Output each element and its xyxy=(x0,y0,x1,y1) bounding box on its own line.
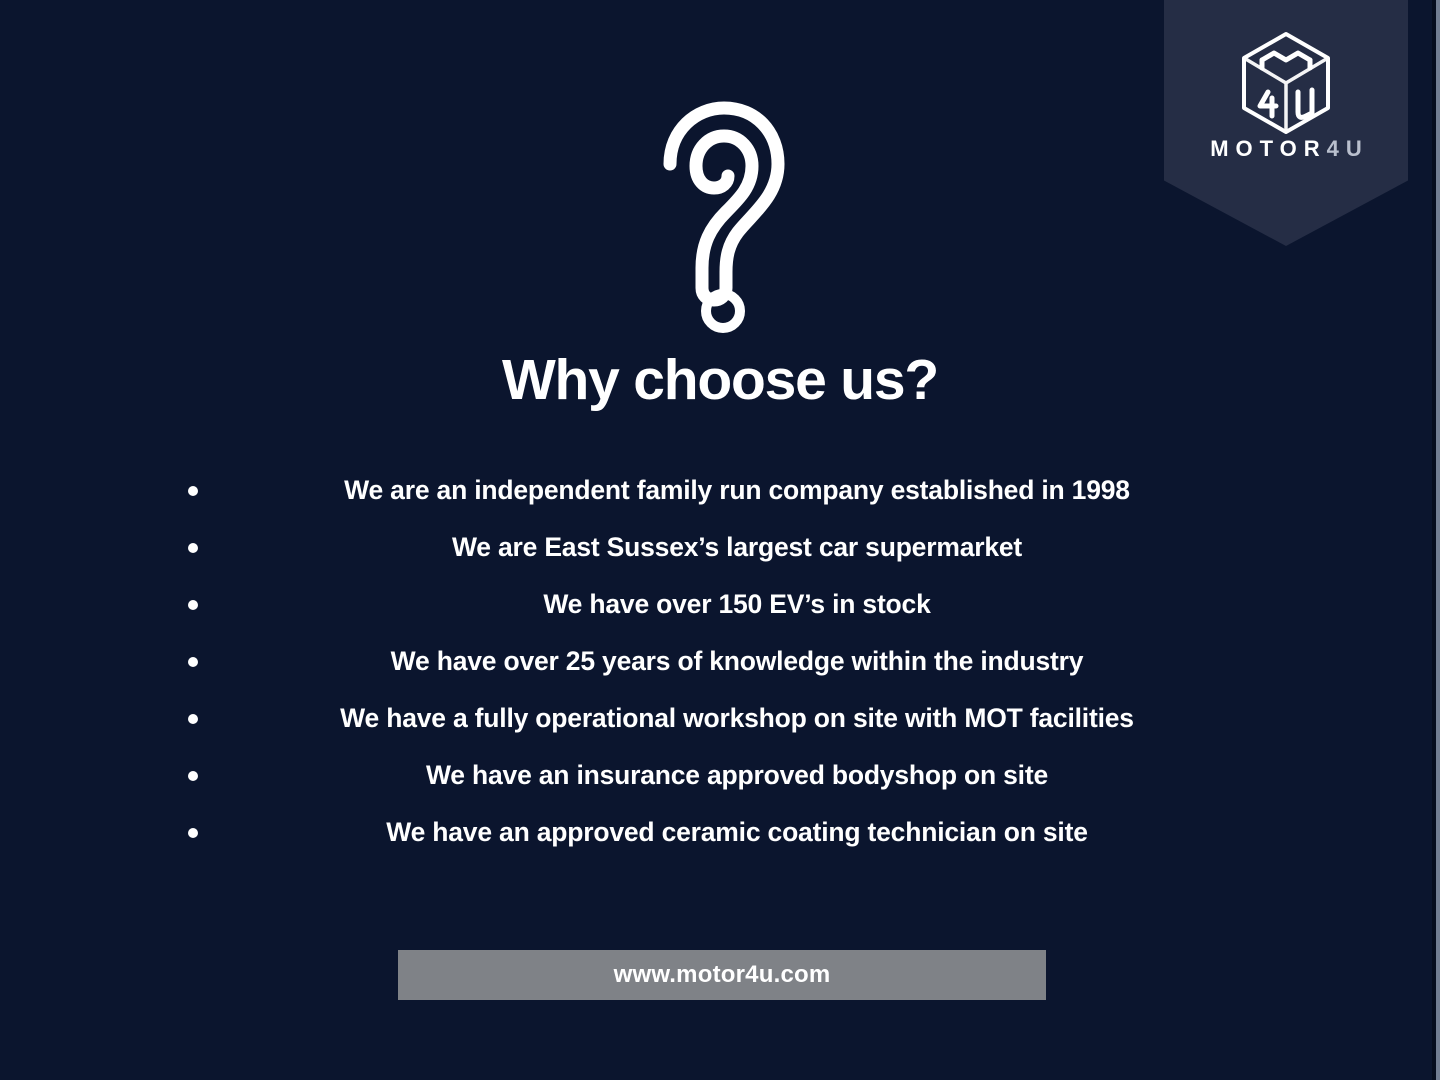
logo-wordmark-suffix: 4U xyxy=(1327,136,1369,161)
list-item-label: We are an independent family run company… xyxy=(310,475,1130,506)
benefits-list: We are an independent family run company… xyxy=(0,462,1440,861)
website-url-bar[interactable]: www.motor4u.com xyxy=(398,950,1046,1000)
list-item: We are an independent family run company… xyxy=(0,462,1440,519)
bullet-dot-icon xyxy=(188,828,198,838)
question-mark-icon xyxy=(648,92,798,342)
bullet-dot-icon xyxy=(188,486,198,496)
list-item: We have an insurance approved bodyshop o… xyxy=(0,747,1440,804)
list-item: We have an approved ceramic coating tech… xyxy=(0,804,1440,861)
logo-banner: MOTOR4U xyxy=(1164,0,1408,246)
cube-logo-icon xyxy=(1238,30,1334,136)
list-item-label: We have over 150 EV’s in stock xyxy=(509,589,930,620)
bullet-dot-icon xyxy=(188,714,198,724)
bullet-dot-icon xyxy=(188,543,198,553)
list-item: We have a fully operational workshop on … xyxy=(0,690,1440,747)
list-item-label: We have an approved ceramic coating tech… xyxy=(352,817,1088,848)
list-item-label: We are East Sussex’s largest car superma… xyxy=(418,532,1022,563)
bullet-dot-icon xyxy=(188,600,198,610)
list-item: We are East Sussex’s largest car superma… xyxy=(0,519,1440,576)
logo-wordmark: MOTOR4U xyxy=(1164,136,1408,162)
bullet-dot-icon xyxy=(188,657,198,667)
bullet-dot-icon xyxy=(188,771,198,781)
list-item-label: We have an insurance approved bodyshop o… xyxy=(392,760,1048,791)
list-item: We have over 150 EV’s in stock xyxy=(0,576,1440,633)
list-item-label: We have over 25 years of knowledge withi… xyxy=(357,646,1084,677)
viewport-edge-line xyxy=(1436,0,1440,1080)
list-item-label: We have a fully operational workshop on … xyxy=(306,703,1134,734)
page-title: Why choose us? xyxy=(0,352,1440,409)
list-item: We have over 25 years of knowledge withi… xyxy=(0,633,1440,690)
website-url-label: www.motor4u.com xyxy=(614,961,831,989)
logo-wordmark-main: MOTOR xyxy=(1210,136,1326,161)
slide-canvas: MOTOR4U Why choose us? We are an indepen… xyxy=(0,0,1440,1080)
